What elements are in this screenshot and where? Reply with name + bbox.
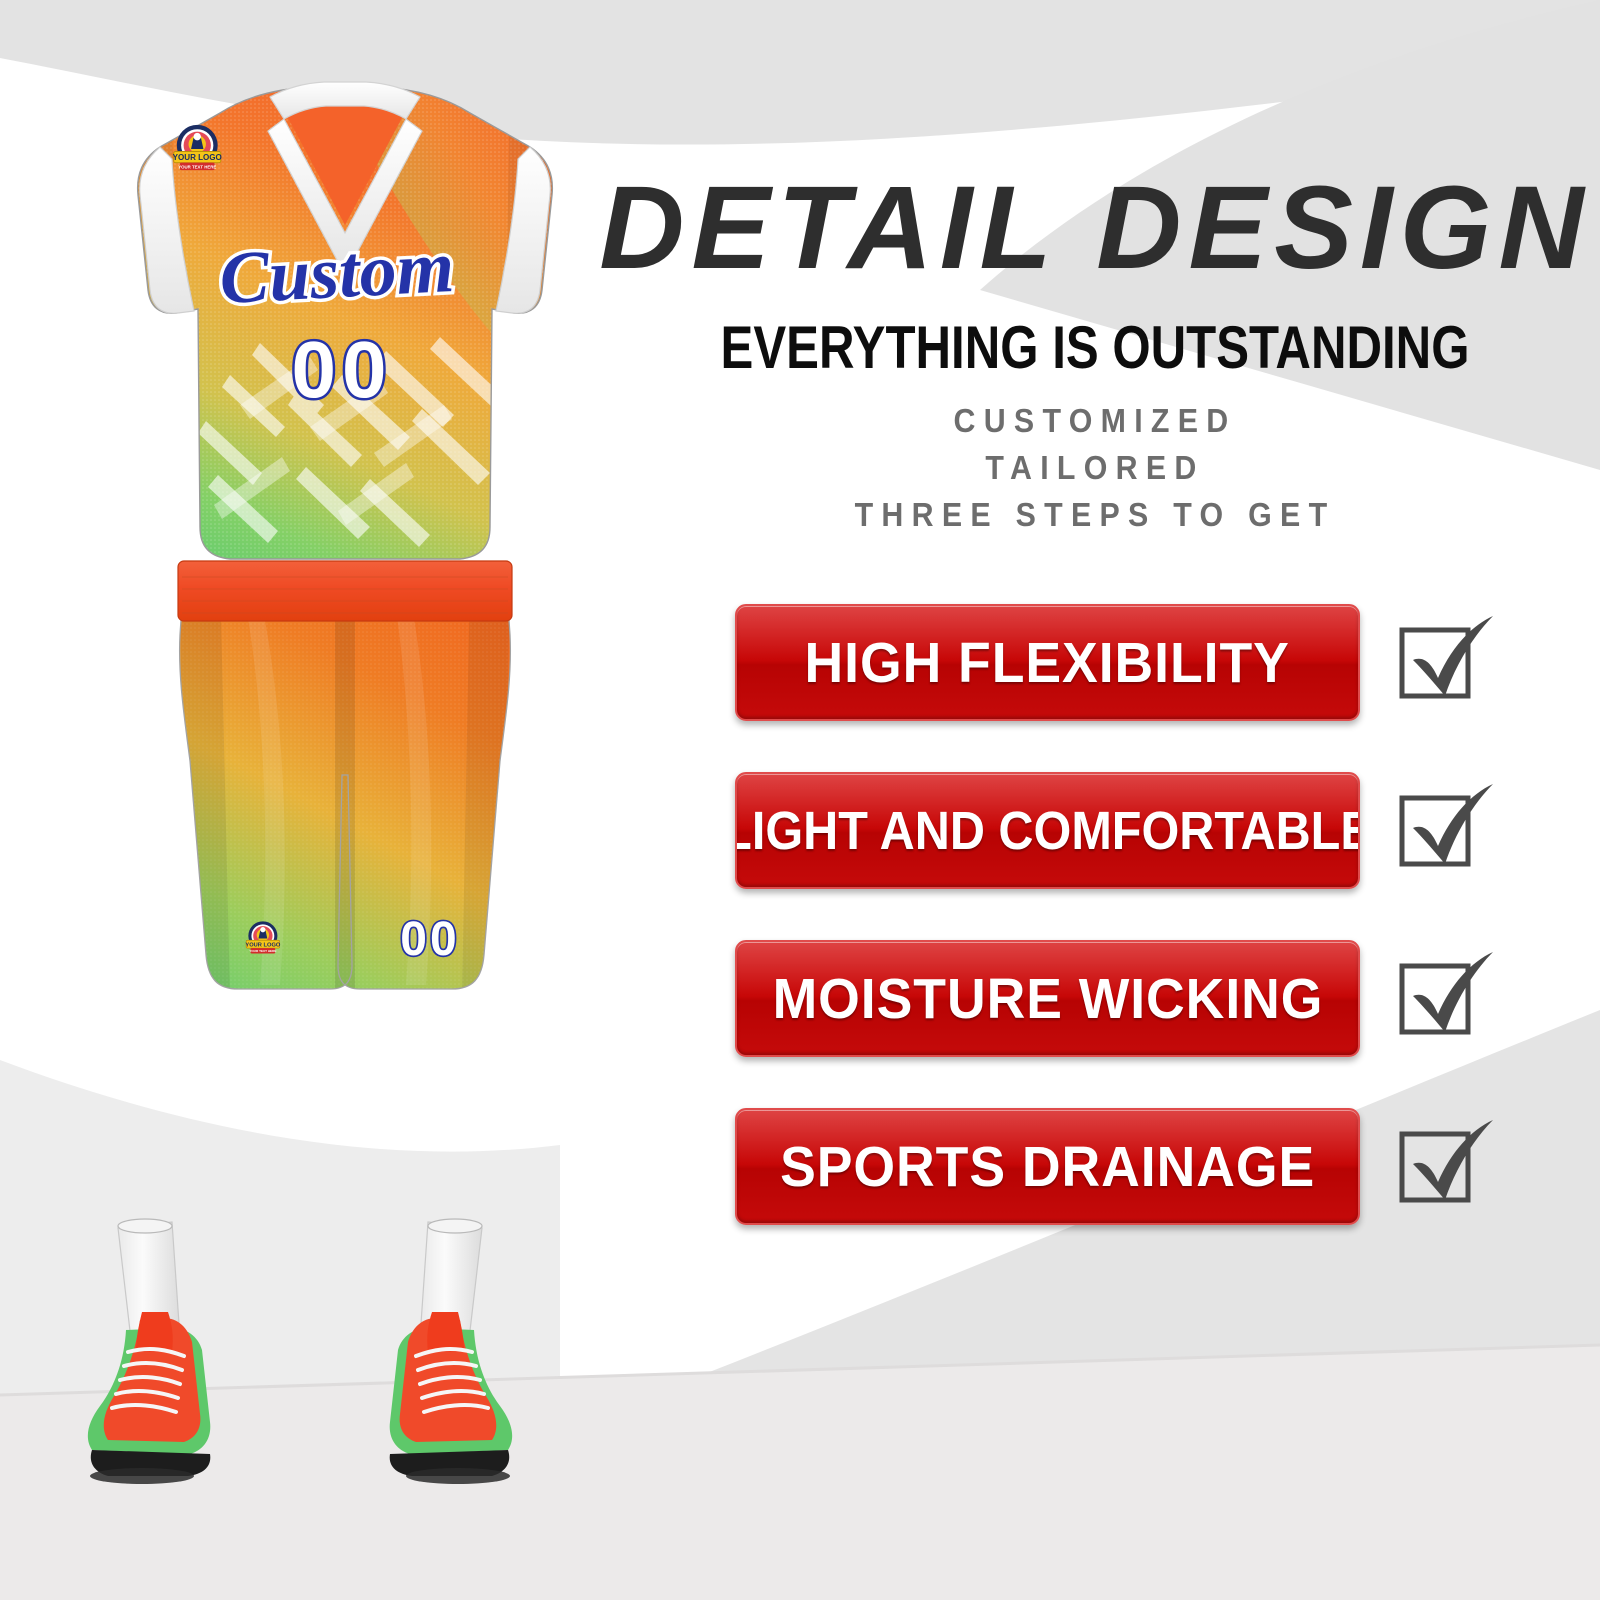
checkbox-checked-icon[interactable] bbox=[1385, 776, 1500, 884]
product-showcase: YOUR LOGO YOUR TEXT HERE Custom 00 bbox=[0, 0, 640, 1600]
feature-row: LIGHT AND COMFORTABLE bbox=[590, 766, 1600, 934]
feature-banner-sports-drainage[interactable]: SPORTS DRAINAGE bbox=[735, 1108, 1360, 1225]
feature-row: MOISTURE WICKING bbox=[590, 934, 1600, 1102]
checkbox-checked-icon[interactable] bbox=[1385, 1112, 1500, 1220]
checkbox-checked-icon[interactable] bbox=[1385, 608, 1500, 716]
checkbox-checked-icon[interactable] bbox=[1385, 944, 1500, 1052]
feature-banner-high-flexibility[interactable]: HIGH FLEXIBILITY bbox=[735, 604, 1360, 721]
feature-label: SPORTS DRAINAGE bbox=[780, 1134, 1315, 1200]
jersey: YOUR LOGO YOUR TEXT HERE Custom 00 bbox=[110, 75, 580, 575]
subline-3: THREE STEPS TO GET bbox=[630, 492, 1559, 539]
jersey-number: 00 bbox=[292, 325, 393, 414]
feature-list: HIGH FLEXIBILITY LIGHT AND COMFORTABLE M… bbox=[590, 598, 1600, 1270]
page-title: DETAIL DESIGN bbox=[590, 140, 1600, 320]
subheadline-group: CUSTOMIZED TAILORED THREE STEPS TO GET bbox=[630, 398, 1559, 539]
subline-2: TAILORED bbox=[630, 445, 1559, 492]
uniform-illustration: YOUR LOGO YOUR TEXT HERE Custom 00 bbox=[110, 75, 580, 1075]
shoe-tongue-left bbox=[136, 1312, 173, 1352]
shorts-logo-primary-text: YOUR LOGO bbox=[245, 942, 281, 948]
shorts-number: 00 bbox=[400, 913, 459, 966]
feature-banner-moisture-wicking[interactable]: MOISTURE WICKING bbox=[735, 940, 1360, 1057]
shorts: YOUR LOGO YOUR TEXT HERE 00 bbox=[110, 555, 580, 1015]
shoe-left bbox=[88, 1219, 210, 1484]
logo-primary-text: YOUR LOGO bbox=[173, 153, 222, 162]
jersey-team-text: Custom bbox=[218, 226, 456, 320]
shoe-outsole-right bbox=[406, 1468, 510, 1484]
sock-cuff-right bbox=[428, 1219, 482, 1233]
shorts-logo-secondary-text: YOUR TEXT HERE bbox=[249, 949, 276, 953]
subline-1: CUSTOMIZED bbox=[630, 398, 1559, 445]
feature-banner-light-and-comfortable[interactable]: LIGHT AND COMFORTABLE bbox=[735, 772, 1360, 889]
shoe-right bbox=[390, 1219, 512, 1484]
shoes-illustration bbox=[80, 1200, 600, 1540]
logo-secondary-text: YOUR TEXT HERE bbox=[178, 164, 216, 169]
feature-row: HIGH FLEXIBILITY bbox=[590, 598, 1600, 766]
sock-cuff-left bbox=[118, 1219, 172, 1233]
content-panel: DETAIL DESIGN EVERYTHING IS OUTSTANDING … bbox=[590, 0, 1600, 1600]
shoe-tongue-right bbox=[427, 1312, 464, 1352]
feature-label: MOISTURE WICKING bbox=[772, 966, 1323, 1032]
shorts-waistband bbox=[178, 561, 512, 621]
page-title-text: DETAIL DESIGN bbox=[599, 162, 1590, 294]
headline: EVERYTHING IS OUTSTANDING bbox=[681, 318, 1509, 378]
feature-label: HIGH FLEXIBILITY bbox=[805, 630, 1290, 696]
feature-row: SPORTS DRAINAGE bbox=[590, 1102, 1600, 1270]
feature-label: LIGHT AND COMFORTABLE bbox=[735, 800, 1360, 862]
shoe-outsole-left bbox=[90, 1468, 194, 1484]
